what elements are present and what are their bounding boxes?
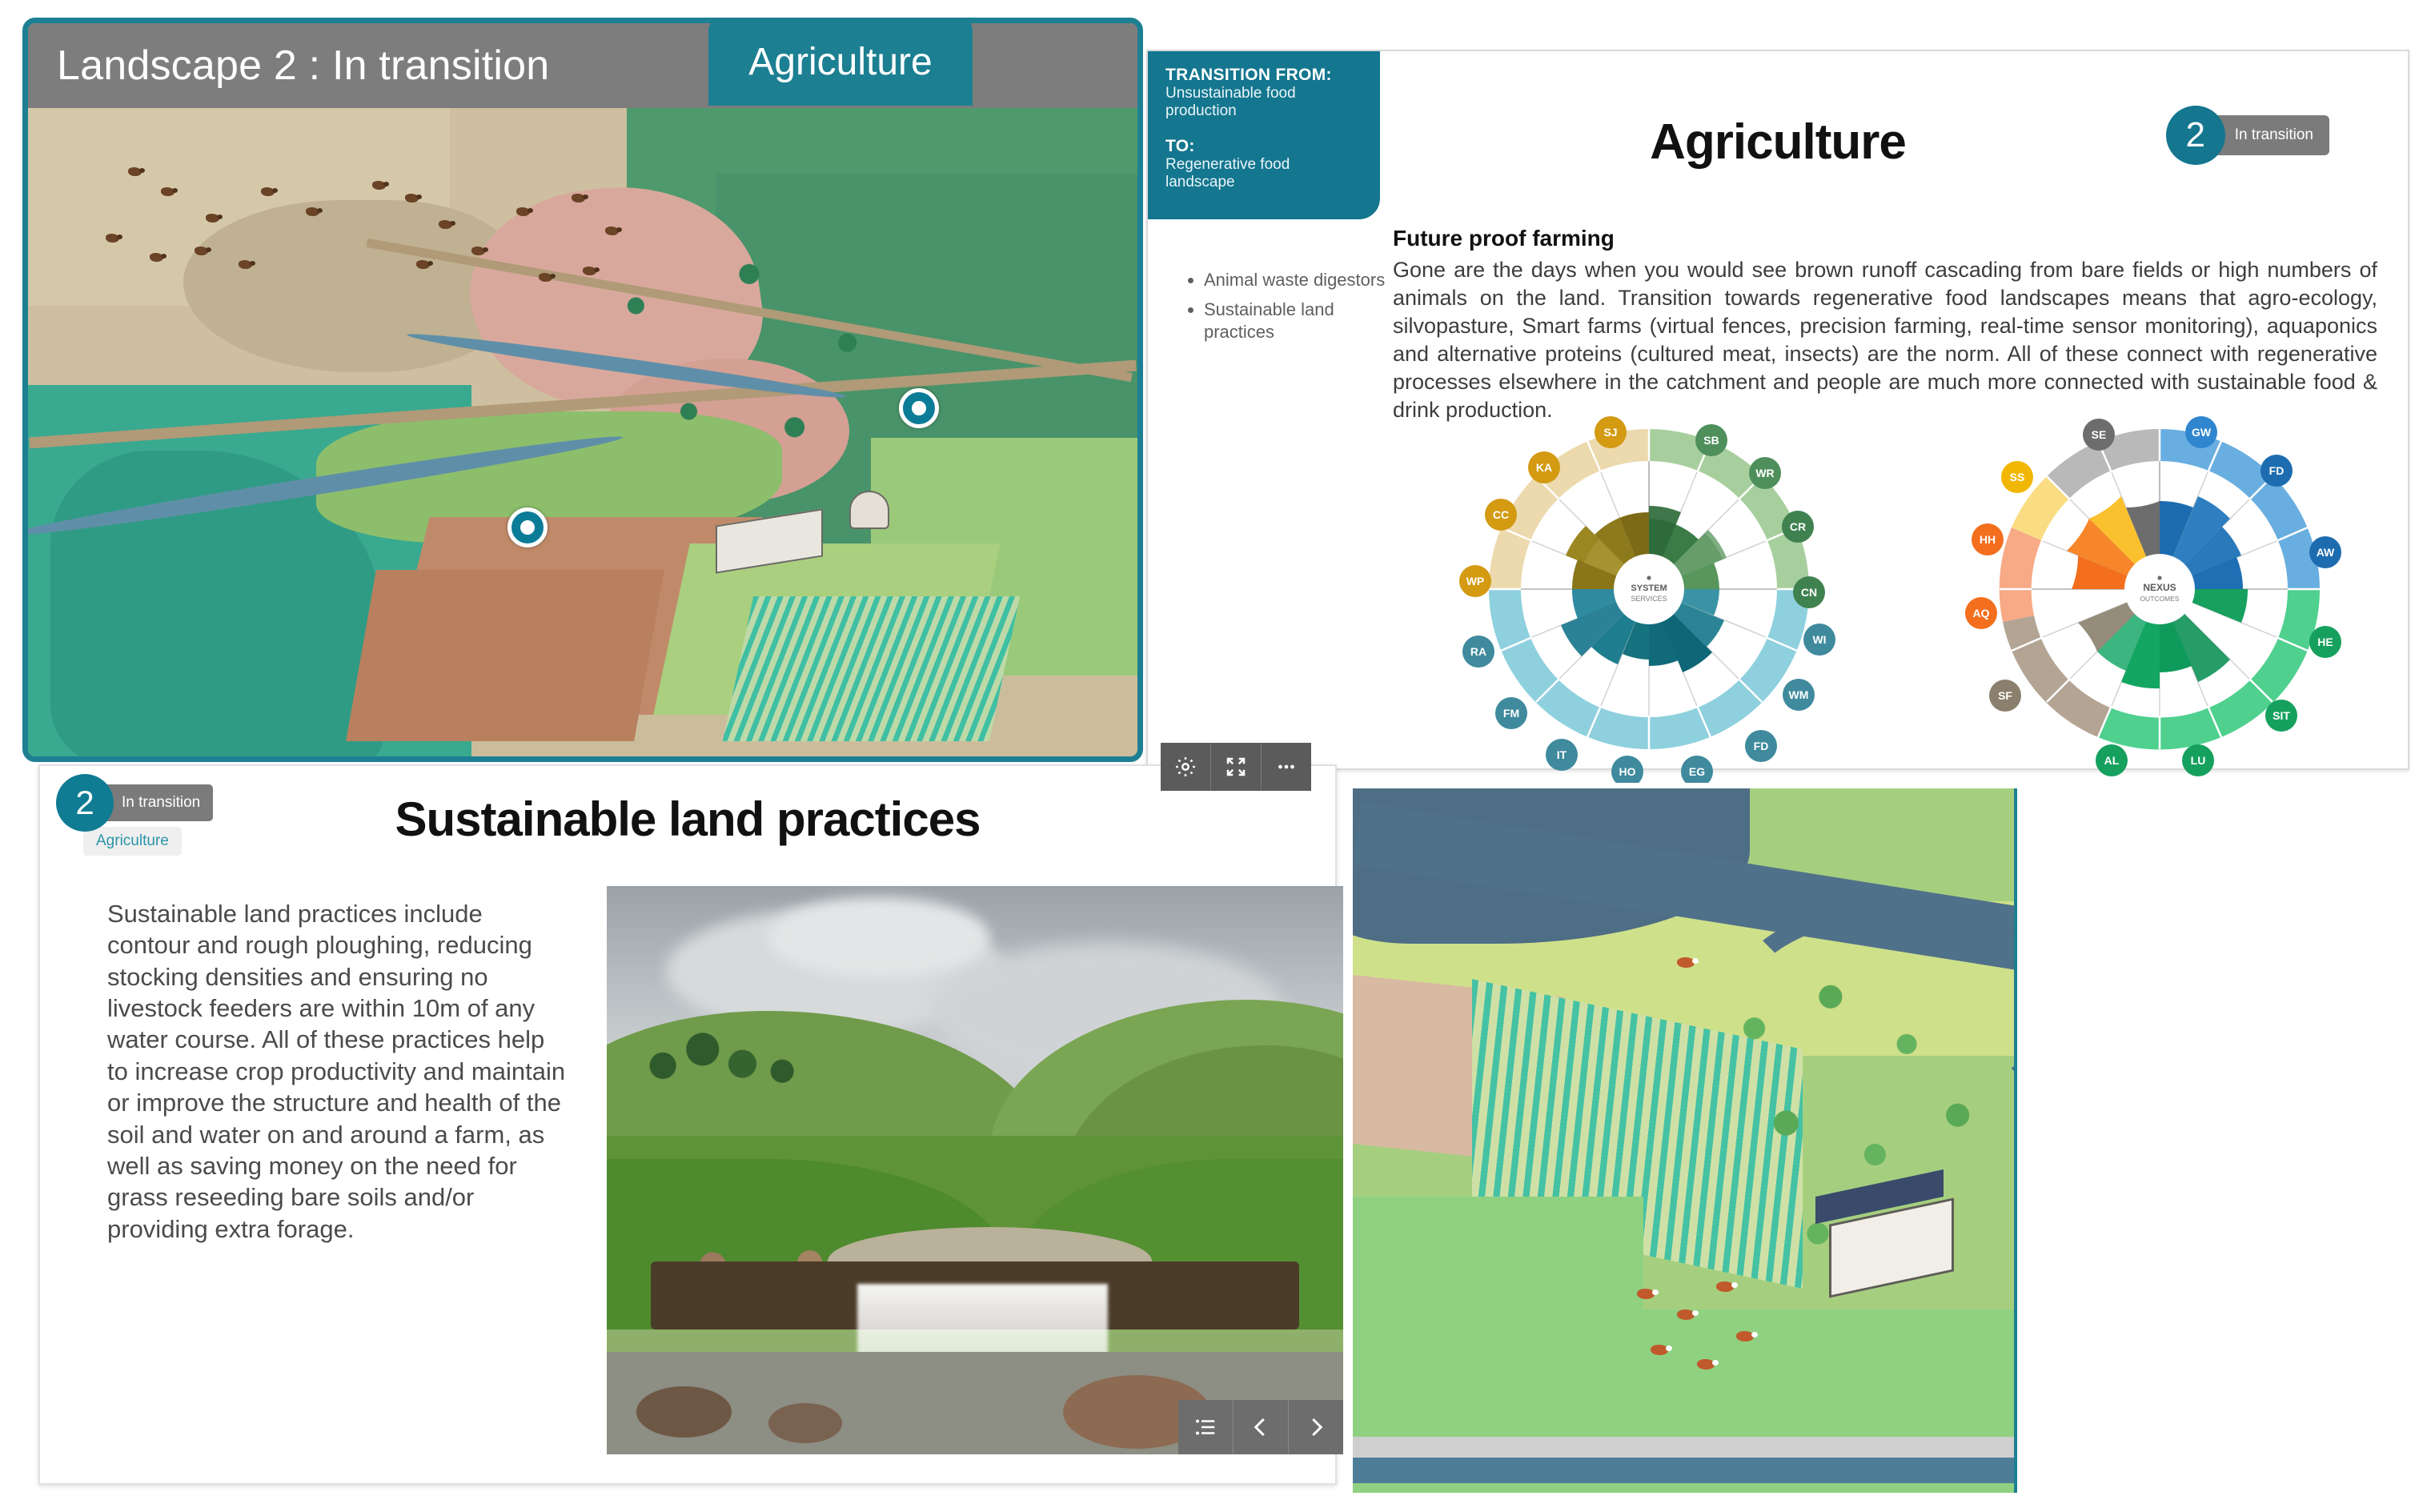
page-title: Sustainable land practices bbox=[40, 792, 1335, 847]
l2-livestock bbox=[1677, 957, 1695, 968]
radial-label-WP: WP bbox=[1459, 565, 1491, 597]
svg-text:CR: CR bbox=[1790, 520, 1806, 533]
radial-center-label-line2: SERVICES bbox=[1631, 595, 1667, 603]
svg-text:AW: AW bbox=[2317, 546, 2335, 559]
map-livestock bbox=[605, 227, 619, 235]
map-livestock bbox=[206, 214, 219, 223]
map-livestock bbox=[128, 167, 142, 176]
map-field-crop-rows bbox=[723, 596, 1020, 741]
photo-cloud bbox=[768, 897, 989, 977]
svg-text:GW: GW bbox=[2192, 426, 2212, 439]
map-livestock bbox=[106, 234, 119, 243]
agriculture-bullet-list: Animal waste digestors Sustainable land … bbox=[1183, 269, 1391, 351]
svg-text:WR: WR bbox=[1755, 467, 1774, 479]
next-icon[interactable] bbox=[1288, 1400, 1343, 1454]
svg-text:AL: AL bbox=[2104, 754, 2120, 767]
map-livestock bbox=[572, 194, 585, 203]
landscape-panel[interactable]: Landscape 2 : In transition bbox=[22, 18, 1143, 762]
badge-number: 2 bbox=[56, 774, 114, 832]
svg-text:HH: HH bbox=[1980, 533, 1996, 546]
radial-label-IT: IT bbox=[1546, 739, 1578, 771]
radial-label-SS: SS bbox=[2001, 461, 2033, 493]
radial-label-HO: HO bbox=[1611, 756, 1643, 783]
radial-label-WR: WR bbox=[1749, 457, 1781, 489]
list-item[interactable]: Sustainable land practices bbox=[1204, 299, 1391, 344]
map-livestock bbox=[195, 247, 208, 255]
photo-controls[interactable] bbox=[1178, 1400, 1343, 1454]
svg-text:FD: FD bbox=[1754, 740, 1769, 752]
svg-text:IT: IT bbox=[1557, 748, 1567, 761]
svg-text:WP: WP bbox=[1466, 575, 1485, 588]
svg-text:SS: SS bbox=[2010, 471, 2025, 483]
svg-text:RA: RA bbox=[1470, 645, 1486, 658]
system-services-radial-chart[interactable]: SYSTEM SERVICES SB WR CR CN SJ KA CC WP … bbox=[1441, 399, 1857, 783]
list-item[interactable]: Animal waste digestors bbox=[1204, 269, 1391, 292]
svg-text:SIT: SIT bbox=[2273, 709, 2290, 722]
radial-label-EG: EG bbox=[1681, 756, 1713, 783]
photo-trees bbox=[636, 1011, 857, 1102]
radial-label-HH: HH bbox=[1972, 523, 2004, 555]
landscape-2-image[interactable] bbox=[1353, 788, 2017, 1493]
map-livestock bbox=[306, 207, 319, 216]
l2-livestock bbox=[1716, 1281, 1734, 1292]
radial-center-label-line1: NEXUS bbox=[2143, 582, 2176, 593]
radial-label-LU: LU bbox=[2182, 744, 2214, 776]
map-marker-farm-buildings[interactable] bbox=[899, 388, 939, 428]
svg-text:HE: HE bbox=[2317, 636, 2333, 648]
photo-boulder bbox=[636, 1386, 732, 1438]
svg-text:SE: SE bbox=[2092, 428, 2107, 441]
svg-text:FD: FD bbox=[2269, 464, 2285, 477]
radial-center-label-line1: SYSTEM bbox=[1631, 584, 1667, 593]
radial-label-WM: WM bbox=[1783, 679, 1815, 711]
gear-icon[interactable] bbox=[1161, 743, 1210, 791]
radial-label-FM: FM bbox=[1495, 697, 1527, 729]
map-livestock bbox=[539, 273, 552, 282]
radial-label-SF: SF bbox=[1989, 680, 2021, 712]
map-livestock bbox=[439, 220, 452, 229]
stream-photo[interactable] bbox=[607, 886, 1343, 1454]
more-options-icon[interactable] bbox=[1261, 743, 1311, 791]
svg-text:EG: EG bbox=[1689, 765, 1705, 778]
map-silo bbox=[849, 491, 889, 529]
radial-label-CN: CN bbox=[1793, 576, 1825, 608]
radial-label-SE: SE bbox=[2083, 419, 2115, 451]
badge-status-label: In transition bbox=[2211, 115, 2329, 155]
badge-number: 2 bbox=[2166, 106, 2225, 165]
expand-icon[interactable] bbox=[1210, 743, 1261, 791]
radial-label-SIT: SIT bbox=[2265, 700, 2297, 732]
nexus-outcomes-radial-chart[interactable]: NEXUS OUTCOMES SE GW FD AW HE SIT LU AL … bbox=[1952, 399, 2368, 783]
radial-label-AL: AL bbox=[2096, 744, 2128, 776]
l2-livestock bbox=[1736, 1331, 1754, 1342]
tab-agriculture[interactable]: Agriculture bbox=[708, 18, 973, 106]
l2-livestock bbox=[1637, 1289, 1655, 1299]
radial-label-SJ: SJ bbox=[1595, 416, 1627, 448]
radial-label-FD: FD bbox=[1745, 730, 1777, 762]
l2-livestock bbox=[1677, 1309, 1695, 1320]
sustainable-land-practices-panel: 2 In transition Agriculture Sustainable … bbox=[38, 764, 1337, 1485]
agriculture-body: Future proof farming Gone are the days w… bbox=[1393, 226, 2377, 425]
radial-label-CC: CC bbox=[1485, 499, 1517, 531]
svg-text:HO: HO bbox=[1619, 765, 1636, 778]
photo-boulder bbox=[768, 1403, 842, 1443]
radial-label-FD: FD bbox=[2261, 455, 2293, 487]
svg-text:CN: CN bbox=[1801, 586, 1817, 599]
l2-woodland bbox=[1710, 957, 2017, 1352]
radial-center-label-line2: OUTCOMES bbox=[2140, 595, 2179, 603]
map-livestock bbox=[471, 247, 485, 255]
landscape-title: Landscape 2 : In transition bbox=[28, 42, 549, 90]
radial-label-KA: KA bbox=[1528, 451, 1560, 483]
radial-label-CR: CR bbox=[1782, 511, 1814, 543]
tab-agriculture-label: Agriculture bbox=[748, 40, 932, 84]
map-field-ploughed-2 bbox=[346, 570, 664, 741]
svg-text:FM: FM bbox=[1503, 707, 1519, 720]
radial-label-SB: SB bbox=[1695, 424, 1727, 456]
radial-label-GW: GW bbox=[2185, 416, 2217, 448]
radial-label-AW: AW bbox=[2309, 536, 2341, 568]
svg-text:KA: KA bbox=[1536, 461, 1552, 474]
sustainable-body-text: Sustainable land practices include conto… bbox=[107, 898, 572, 1245]
map-livestock bbox=[405, 194, 419, 203]
map-livestock bbox=[416, 260, 430, 269]
map-livestock bbox=[516, 207, 530, 216]
l2-road bbox=[1353, 1437, 2014, 1458]
panel-toolbar[interactable] bbox=[1161, 743, 1311, 791]
svg-text:SF: SF bbox=[1998, 689, 2012, 702]
transition-from-label: TRANSITION FROM: bbox=[1165, 66, 1362, 85]
map-livestock bbox=[239, 260, 252, 269]
radial-label-AQ: AQ bbox=[1965, 597, 1997, 629]
map-livestock bbox=[161, 187, 175, 196]
svg-text:CC: CC bbox=[1493, 508, 1509, 521]
svg-text:WI: WI bbox=[1812, 633, 1826, 646]
playlist-icon[interactable] bbox=[1178, 1400, 1233, 1454]
svg-text:SB: SB bbox=[1703, 434, 1719, 447]
map-livestock bbox=[261, 187, 275, 196]
radial-label-WI: WI bbox=[1803, 624, 1835, 656]
l2-livestock bbox=[1697, 1359, 1715, 1370]
l2-river-bottom bbox=[1353, 1458, 2014, 1483]
previous-icon[interactable] bbox=[1233, 1400, 1288, 1454]
l2-livestock bbox=[1651, 1345, 1668, 1355]
radial-label-HE: HE bbox=[2309, 626, 2341, 658]
agriculture-subheading: Future proof farming bbox=[1393, 226, 2377, 251]
svg-text:WM: WM bbox=[1789, 688, 1809, 701]
landscape-map-image[interactable] bbox=[28, 108, 1137, 762]
map-marker-field[interactable] bbox=[507, 507, 548, 547]
map-livestock bbox=[372, 181, 386, 190]
svg-text:LU: LU bbox=[2191, 754, 2206, 767]
svg-text:AQ: AQ bbox=[1973, 607, 1990, 620]
radial-label-RA: RA bbox=[1462, 636, 1494, 668]
svg-text:SJ: SJ bbox=[1603, 426, 1617, 439]
map-livestock bbox=[583, 267, 596, 275]
status-badge: 2 In transition bbox=[2166, 106, 2329, 165]
